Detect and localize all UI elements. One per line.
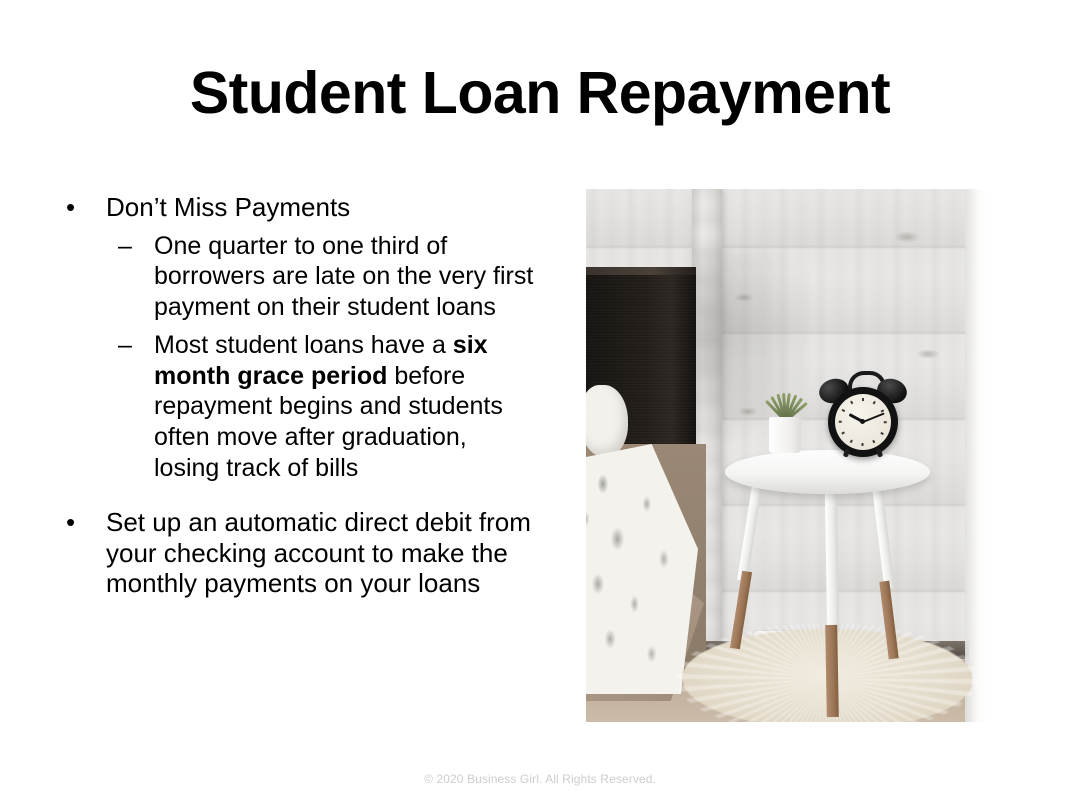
photo-content	[586, 189, 987, 722]
bullet-marker-dot: •	[66, 192, 75, 223]
page-title: Student Loan Repayment	[40, 62, 1040, 125]
headboard-top-edge	[586, 267, 696, 275]
bullet-item-level2: – One quarter to one third of borrowers …	[58, 231, 536, 323]
wall-right-edge	[965, 189, 987, 722]
bullet-text: Don’t Miss Payments	[106, 192, 350, 222]
wood-knot	[894, 231, 920, 243]
clock-foot-left	[843, 448, 850, 457]
wood-knot	[916, 349, 940, 359]
bullet-marker-dash: –	[118, 330, 132, 361]
bullet-text: One quarter to one third of borrowers ar…	[154, 232, 533, 321]
potted-plant-leaves	[767, 385, 803, 421]
clock-body	[828, 387, 898, 457]
bullet-list: • Don’t Miss Payments – One quarter to o…	[58, 192, 536, 601]
clock-minute-hand	[863, 412, 885, 422]
bullet-marker-dot: •	[66, 507, 75, 538]
copyright-footer: © 2020 Business Girl. All Rights Reserve…	[0, 772, 1080, 786]
table-leg-wood-tip	[825, 625, 839, 717]
bullet-marker-dash: –	[118, 231, 132, 262]
white-plant-pot	[769, 417, 801, 453]
bullet-item-level2: – Most student loans have a six month gr…	[58, 330, 536, 483]
bullet-text-before: Most student loans have a	[154, 331, 453, 359]
bedroom-nightstand-photo	[586, 189, 987, 722]
bullet-item-level1: • Set up an automatic direct debit from …	[58, 507, 536, 599]
alarm-clock	[820, 371, 906, 463]
slide-canvas: Student Loan Repayment • Don’t Miss Paym…	[0, 0, 1080, 810]
pillow	[586, 385, 628, 457]
bullet-item-level1: • Don’t Miss Payments	[58, 192, 536, 223]
clock-center-pin	[860, 419, 865, 424]
clock-foot-right	[876, 448, 883, 457]
bullet-text: Set up an automatic direct debit from yo…	[106, 507, 531, 598]
clock-face	[835, 394, 891, 450]
